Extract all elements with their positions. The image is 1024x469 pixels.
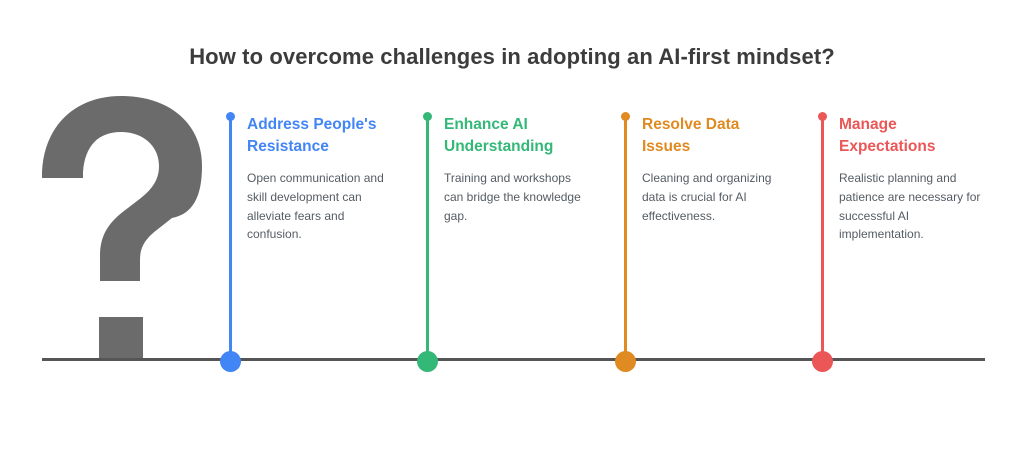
timeline-item-body: Cleaning and organizing data is crucial … [642, 169, 790, 225]
timeline-item-content: Resolve Data Issues Cleaning and organiz… [642, 114, 790, 225]
page-title: How to overcome challenges in adopting a… [0, 44, 1024, 70]
timeline-stem [821, 118, 824, 365]
timeline-marker-icon[interactable] [417, 351, 438, 372]
timeline-top-dot-icon [423, 112, 432, 121]
question-mark-icon [36, 96, 206, 361]
timeline-item-heading: Enhance AI Understanding [444, 114, 592, 158]
timeline-item-body: Training and workshops can bridge the kn… [444, 169, 592, 225]
timeline-marker-icon[interactable] [220, 351, 241, 372]
timeline-item-body: Open communication and skill development… [247, 169, 395, 243]
timeline-item-content: Address People's Resistance Open communi… [247, 114, 395, 244]
timeline-top-dot-icon [818, 112, 827, 121]
timeline-item-body: Realistic planning and patience are nece… [839, 169, 987, 243]
timeline-item-heading: Manage Expectations [839, 114, 987, 158]
timeline-item-content: Enhance AI Understanding Training and wo… [444, 114, 592, 225]
timeline-item-heading: Resolve Data Issues [642, 114, 790, 158]
timeline-stem [229, 118, 232, 365]
timeline-stem [624, 118, 627, 365]
timeline-baseline [42, 358, 985, 361]
timeline-top-dot-icon [226, 112, 235, 121]
infographic-canvas: How to overcome challenges in adopting a… [0, 0, 1024, 469]
timeline-marker-icon[interactable] [615, 351, 636, 372]
timeline-item-heading: Address People's Resistance [247, 114, 395, 158]
timeline-top-dot-icon [621, 112, 630, 121]
timeline-item-content: Manage Expectations Realistic planning a… [839, 114, 987, 244]
timeline-stem [426, 118, 429, 365]
timeline-marker-icon[interactable] [812, 351, 833, 372]
